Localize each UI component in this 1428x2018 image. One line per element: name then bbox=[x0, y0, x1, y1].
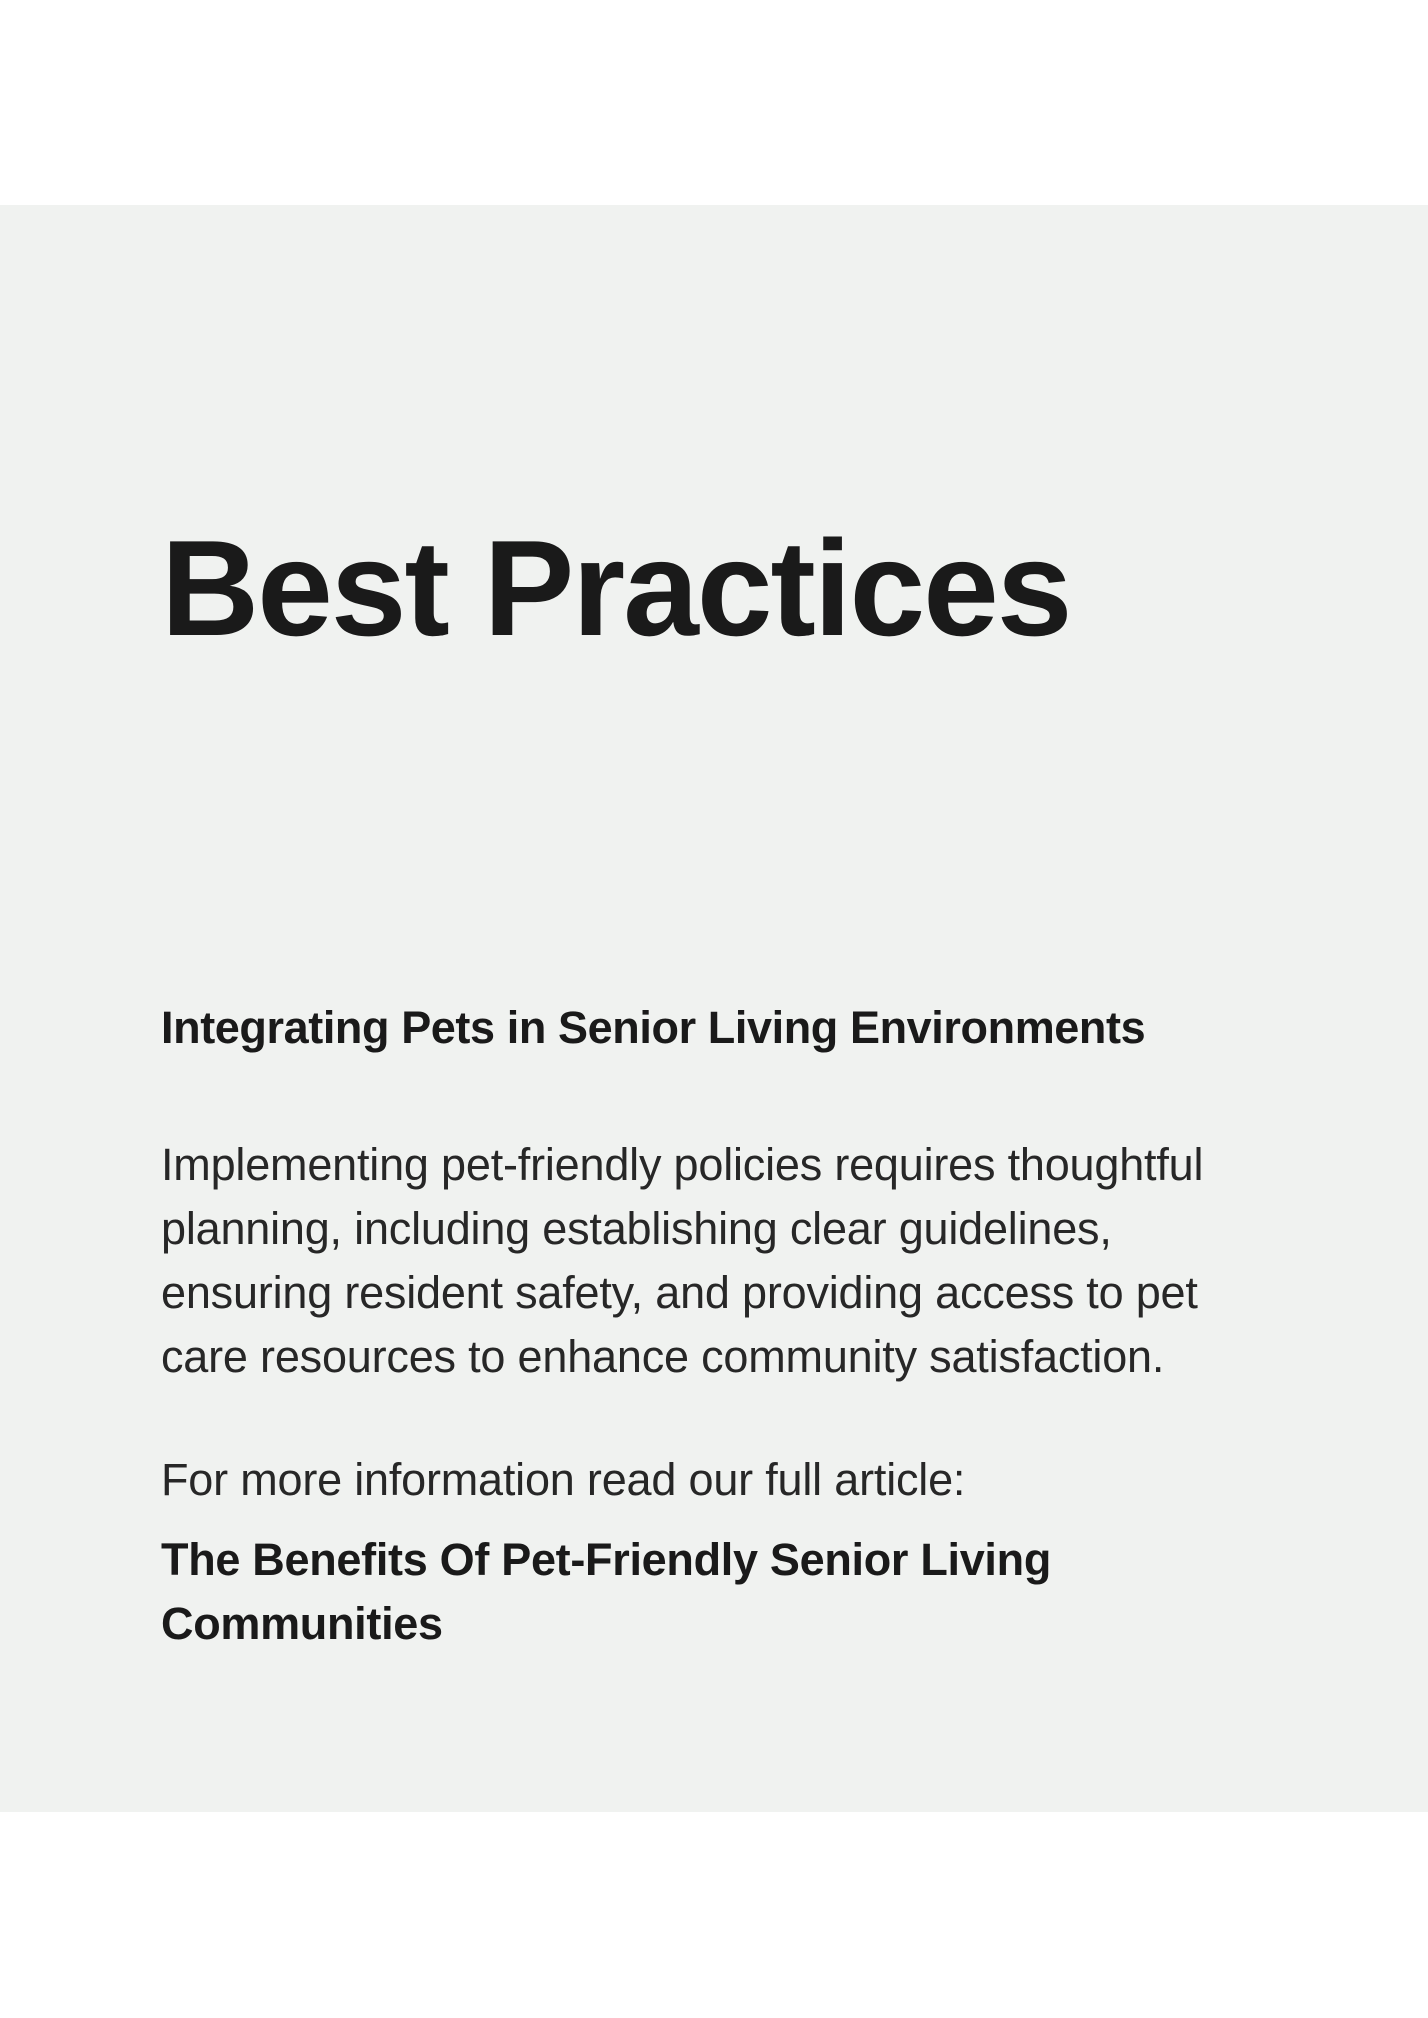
cta-article-title-line: Communities bbox=[161, 1592, 1121, 1656]
body-paragraph-line: care resources to enhance community sati… bbox=[161, 1325, 1161, 1389]
cta-article-title[interactable]: The Benefits Of Pet-Friendly Senior Livi… bbox=[161, 1512, 1121, 1656]
content-card-inner: Best Practices Integrating Pets in Senio… bbox=[161, 205, 1428, 1812]
page-subtitle: Integrating Pets in Senior Living Enviro… bbox=[161, 1001, 1145, 1055]
body-paragraph: Implementing pet-friendly policies requi… bbox=[161, 1133, 1161, 1389]
body-paragraph-line: ensuring resident safety, and providing … bbox=[161, 1261, 1161, 1325]
content-card: Best Practices Integrating Pets in Senio… bbox=[0, 205, 1428, 1812]
body-paragraph-line: planning, including establishing clear g… bbox=[161, 1197, 1161, 1261]
cta-article-title-line: The Benefits Of Pet-Friendly Senior Livi… bbox=[161, 1528, 1121, 1592]
cta-lead-text: For more information read our full artic… bbox=[161, 1448, 1361, 1512]
page-root: Best Practices Integrating Pets in Senio… bbox=[0, 0, 1428, 2018]
page-title: Best Practices bbox=[161, 520, 1070, 656]
body-paragraph-line: Implementing pet-friendly policies requi… bbox=[161, 1133, 1161, 1197]
call-to-action: For more information read our full artic… bbox=[161, 1448, 1361, 1656]
